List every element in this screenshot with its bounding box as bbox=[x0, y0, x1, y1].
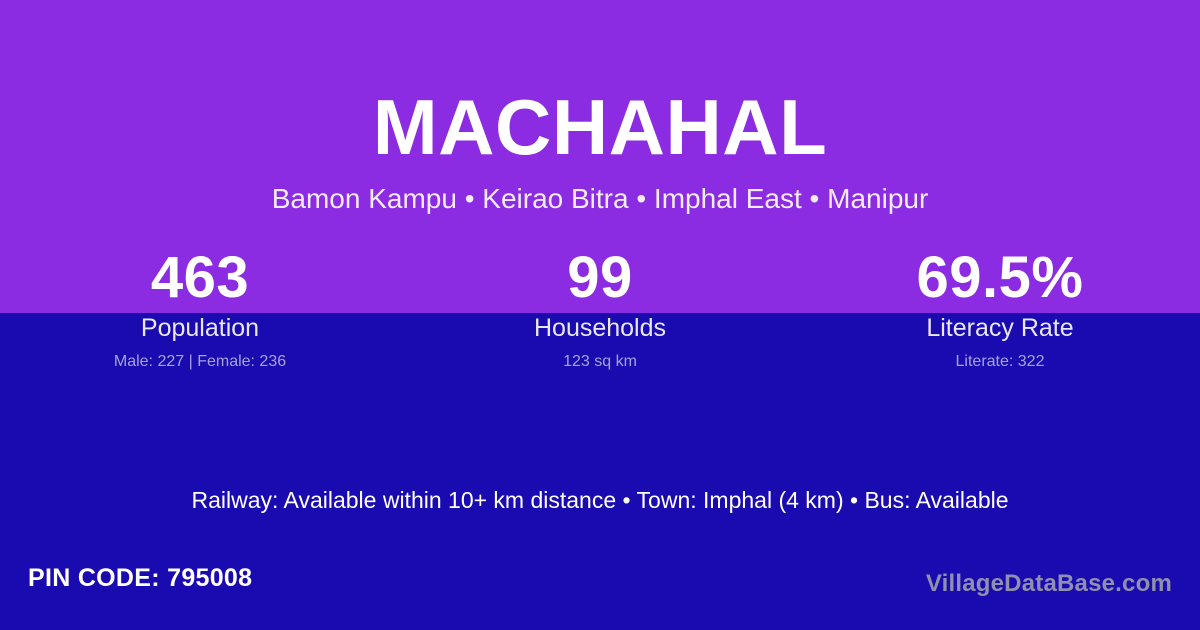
stat-households: 99 Households 123 sq km bbox=[400, 246, 800, 372]
breadcrumb: Bamon Kampu • Keirao Bitra • Imphal East… bbox=[0, 181, 1200, 217]
infrastructure-summary: Railway: Available within 10+ km distanc… bbox=[0, 486, 1200, 515]
stat-population: 463 Population Male: 227 | Female: 236 bbox=[0, 246, 400, 372]
stat-population-sub: Male: 227 | Female: 236 bbox=[0, 352, 400, 372]
stat-population-value: 463 bbox=[0, 246, 400, 310]
stat-households-sub: 123 sq km bbox=[400, 352, 800, 372]
footer: PIN CODE: 795008 VillageDataBase.com bbox=[0, 548, 1200, 630]
stats-row: 463 Population Male: 227 | Female: 236 9… bbox=[0, 246, 1200, 372]
stat-literacy-rate-sub: Literate: 322 bbox=[800, 352, 1200, 372]
stat-population-label: Population bbox=[0, 313, 400, 343]
stat-literacy-rate-label: Literacy Rate bbox=[800, 313, 1200, 343]
village-info-card: MACHAHAL Bamon Kampu • Keirao Bitra • Im… bbox=[0, 0, 1200, 630]
brand-watermark: VillageDataBase.com bbox=[926, 569, 1172, 599]
stat-literacy-rate-value: 69.5% bbox=[800, 246, 1200, 310]
page-title: MACHAHAL bbox=[0, 82, 1200, 172]
stat-households-value: 99 bbox=[400, 246, 800, 310]
pin-code: PIN CODE: 795008 bbox=[28, 562, 252, 594]
stat-literacy-rate: 69.5% Literacy Rate Literate: 322 bbox=[800, 246, 1200, 372]
stat-households-label: Households bbox=[400, 313, 800, 343]
